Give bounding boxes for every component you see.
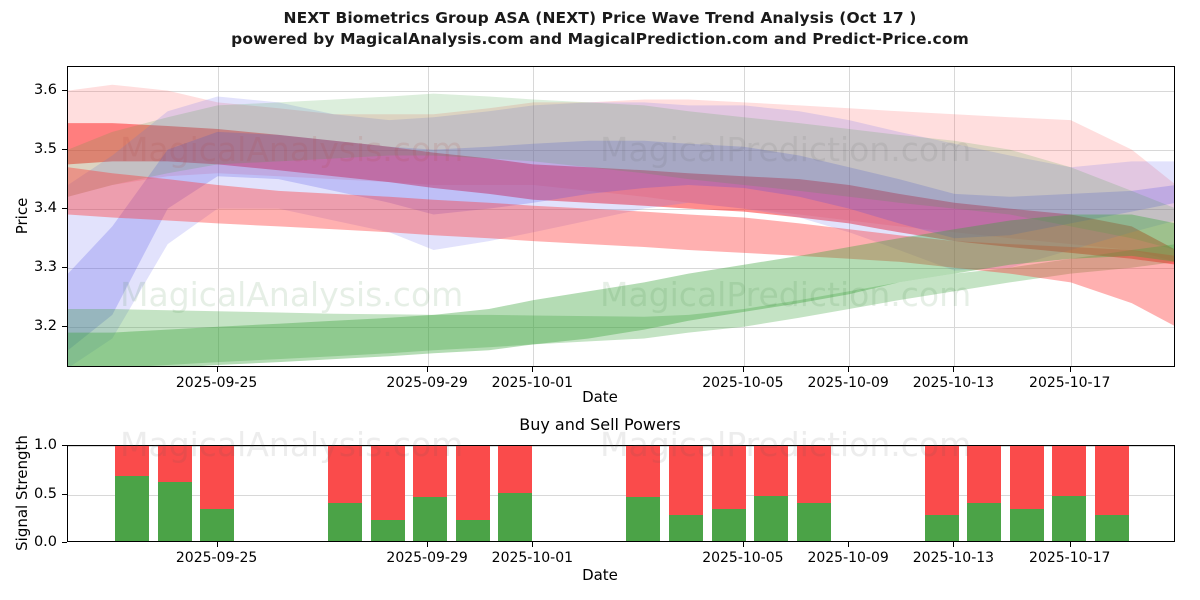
buy-sell-bar[interactable] [669, 445, 703, 541]
signal-x-tick-mark [217, 542, 218, 547]
sell-power-segment [371, 445, 405, 520]
buy-sell-bar[interactable] [115, 445, 149, 541]
buy-power-segment [925, 515, 959, 541]
buy-sell-bar[interactable] [925, 445, 959, 541]
price-x-tick-mark [427, 367, 428, 372]
price-wave-plot-area [67, 66, 1175, 367]
sell-power-segment [115, 445, 149, 476]
buy-sell-bar[interactable] [200, 445, 234, 541]
price-y-tick-label: 3.6 [5, 82, 57, 98]
buy-power-segment [115, 476, 149, 541]
buy-power-segment [626, 497, 660, 541]
price-x-tick-mark [848, 367, 849, 372]
buy-sell-bar[interactable] [328, 445, 362, 541]
buy-power-segment [1010, 509, 1044, 541]
sell-power-segment [626, 445, 660, 497]
sell-power-segment [1052, 445, 1086, 496]
price-y-axis-label: Price [13, 156, 31, 276]
buy-sell-bar[interactable] [371, 445, 405, 541]
buy-sell-bar[interactable] [498, 445, 532, 541]
price-y-tick-label: 3.2 [5, 318, 57, 334]
sell-power-segment [669, 445, 703, 515]
buy-power-segment [1052, 496, 1086, 541]
sell-power-segment [754, 445, 788, 496]
buy-power-segment [200, 509, 234, 541]
buy-sell-bar[interactable] [456, 445, 490, 541]
signal-x-tick-mark [1070, 542, 1071, 547]
signal-y-tick-mark [62, 494, 67, 495]
signal-x-tick-mark [532, 542, 533, 547]
price-x-tick-mark [953, 367, 954, 372]
figure-canvas: NEXT Biometrics Group ASA (NEXT) Price W… [0, 0, 1200, 600]
price-y-tick-mark [62, 208, 67, 209]
price-y-tick-mark [62, 267, 67, 268]
price-x-tick-mark [1070, 367, 1071, 372]
buy-power-segment [456, 520, 490, 541]
sell-power-segment [1095, 445, 1129, 515]
sell-power-segment [797, 445, 831, 503]
sell-power-segment [328, 445, 362, 503]
signal-x-tick-mark [953, 542, 954, 547]
signal-x-tick-mark [427, 542, 428, 547]
signal-x-axis-label: Date [0, 566, 1200, 584]
price-x-tick-mark [217, 367, 218, 372]
buy-power-segment [498, 493, 532, 542]
signal-x-tick-label: 2025-10-01 [467, 550, 597, 566]
sell-power-segment [925, 445, 959, 515]
price-y-tick-mark [62, 90, 67, 91]
figure-title-line1: NEXT Biometrics Group ASA (NEXT) Price W… [0, 8, 1200, 28]
signal-x-tick-label: 2025-10-17 [1005, 550, 1135, 566]
signal-y-tick-mark [62, 542, 67, 543]
figure-title-line2: powered by MagicalAnalysis.com and Magic… [0, 29, 1200, 49]
buy-power-segment [754, 496, 788, 541]
buy-power-segment [669, 515, 703, 541]
buy-sell-bar[interactable] [158, 445, 192, 541]
sell-power-segment [967, 445, 1001, 503]
signal-y-axis-label: Signal Strength [13, 413, 31, 573]
price-y-tick-label: 3.5 [5, 141, 57, 157]
buy-sell-bar[interactable] [967, 445, 1001, 541]
buy-sell-bar[interactable] [1095, 445, 1129, 541]
price-x-axis-label: Date [0, 388, 1200, 406]
buy-sell-bar[interactable] [1010, 445, 1044, 541]
sell-power-segment [158, 445, 192, 482]
sell-power-segment [712, 445, 746, 509]
sell-power-segment [456, 445, 490, 520]
signal-x-tick-mark [848, 542, 849, 547]
sell-power-segment [200, 445, 234, 509]
sell-power-segment [498, 445, 532, 493]
sell-power-segment [1010, 445, 1044, 509]
signal-x-tick-mark [743, 542, 744, 547]
price-x-tick-mark [743, 367, 744, 372]
buy-sell-powers-plot-area [67, 445, 1175, 542]
price-x-tick-mark [532, 367, 533, 372]
sell-power-segment [413, 445, 447, 497]
buy-power-segment [413, 497, 447, 541]
price-y-tick-mark [62, 326, 67, 327]
signal-y-tick-mark [62, 445, 67, 446]
buy-sell-bar[interactable] [712, 445, 746, 541]
signal-x-tick-label: 2025-10-13 [888, 550, 1018, 566]
buy-sell-bar[interactable] [754, 445, 788, 541]
price-band-layer [68, 67, 1175, 367]
buy-sell-bar[interactable] [1052, 445, 1086, 541]
price-y-tick-mark [62, 149, 67, 150]
buy-power-segment [967, 503, 1001, 541]
buy-power-segment [712, 509, 746, 541]
signal-chart-title: Buy and Sell Powers [0, 415, 1200, 434]
buy-sell-bar[interactable] [413, 445, 447, 541]
buy-power-segment [1095, 515, 1129, 541]
buy-sell-bar[interactable] [797, 445, 831, 541]
buy-power-segment [328, 503, 362, 541]
buy-power-segment [158, 482, 192, 541]
buy-power-segment [797, 503, 831, 541]
buy-power-segment [371, 520, 405, 541]
buy-sell-bar[interactable] [626, 445, 660, 541]
signal-x-tick-label: 2025-09-25 [152, 550, 282, 566]
